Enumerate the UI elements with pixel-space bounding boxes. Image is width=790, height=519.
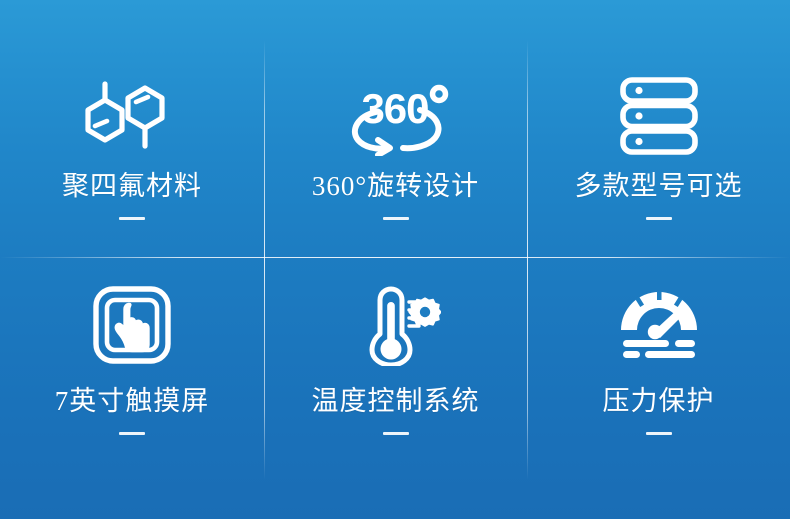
label-underline-dash [119, 217, 145, 220]
label-underline-dash [646, 432, 672, 435]
feature-cell-multiple-models[interactable]: 多款型号可选 [527, 0, 790, 258]
feature-cell-temperature-control[interactable]: 温度控制系统 [264, 258, 527, 519]
feature-label: 聚四氟材料 [62, 172, 202, 202]
feature-label: 压力保护 [603, 387, 715, 417]
feature-cell-touchscreen[interactable]: 7英寸触摸屏 [0, 258, 264, 519]
rotate-360-icon-text: 360 [361, 85, 428, 132]
label-underline-dash [646, 217, 672, 220]
feature-grid: 聚四氟材料 360 360°旋转设计 [0, 0, 790, 519]
feature-cell-pressure-protection[interactable]: 压力保护 [527, 258, 790, 519]
thermometer-gear-icon [351, 285, 441, 365]
feature-label: 360°旋转设计 [312, 172, 479, 202]
feature-banner: 聚四氟材料 360 360°旋转设计 [0, 0, 790, 519]
server-stack-icon [617, 76, 701, 156]
label-underline-dash [119, 432, 145, 435]
label-underline-dash [383, 217, 409, 220]
feature-label: 多款型号可选 [575, 172, 743, 202]
touchscreen-hand-icon [92, 285, 172, 365]
rotate-360-icon: 360 [340, 76, 452, 156]
hexagon-molecule-icon [78, 76, 186, 156]
feature-label: 温度控制系统 [312, 387, 480, 417]
feature-cell-ptfe-material[interactable]: 聚四氟材料 [0, 0, 264, 258]
pressure-gauge-icon [617, 285, 701, 365]
label-underline-dash [383, 432, 409, 435]
feature-cell-360-rotation[interactable]: 360 360°旋转设计 [264, 0, 527, 258]
feature-label: 7英寸触摸屏 [55, 387, 210, 417]
